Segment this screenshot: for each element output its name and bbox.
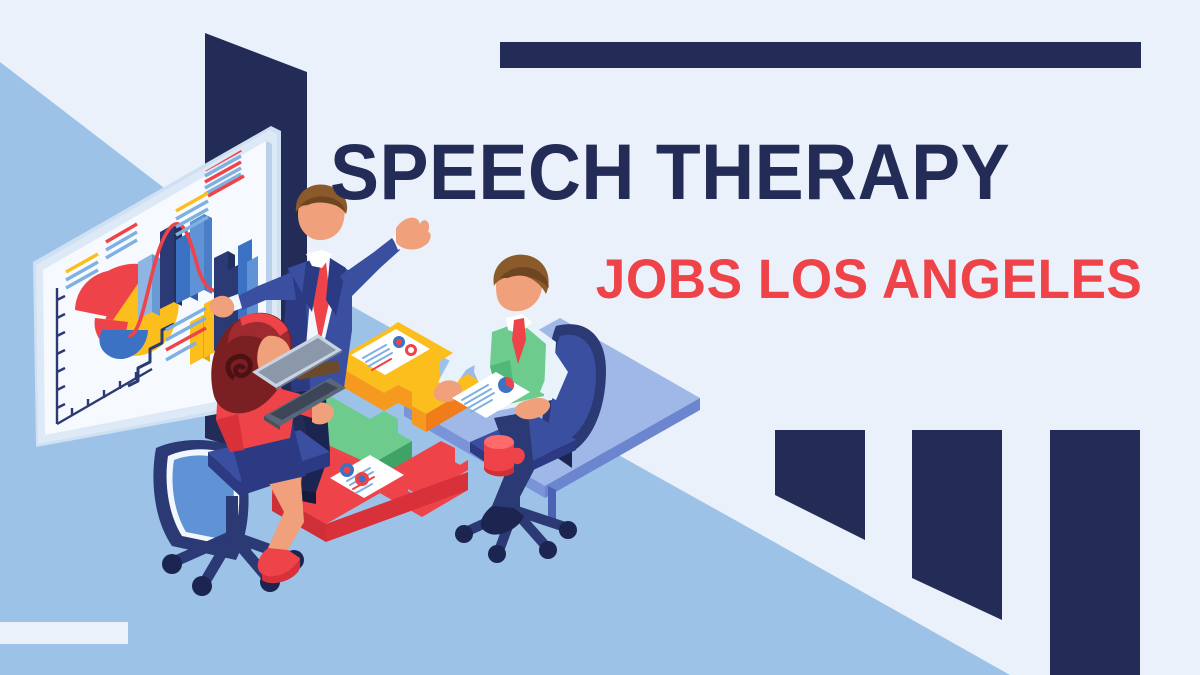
right-decor-bars [0, 0, 1200, 675]
navy-skew-bar-1 [775, 430, 865, 540]
poster-canvas: SPEECH THERAPY JOBS LOS ANGELES [0, 0, 1200, 675]
subtitle-row: JOBS LOS ANGELES [330, 251, 1142, 307]
headline-block: SPEECH THERAPY JOBS LOS ANGELES [330, 136, 1160, 307]
navy-skew-bar-2 [912, 430, 1002, 620]
page-title: SPEECH THERAPY [330, 136, 1102, 209]
navy-skew-bar-3 [1050, 430, 1140, 675]
page-subtitle: JOBS LOS ANGELES [595, 251, 1142, 307]
